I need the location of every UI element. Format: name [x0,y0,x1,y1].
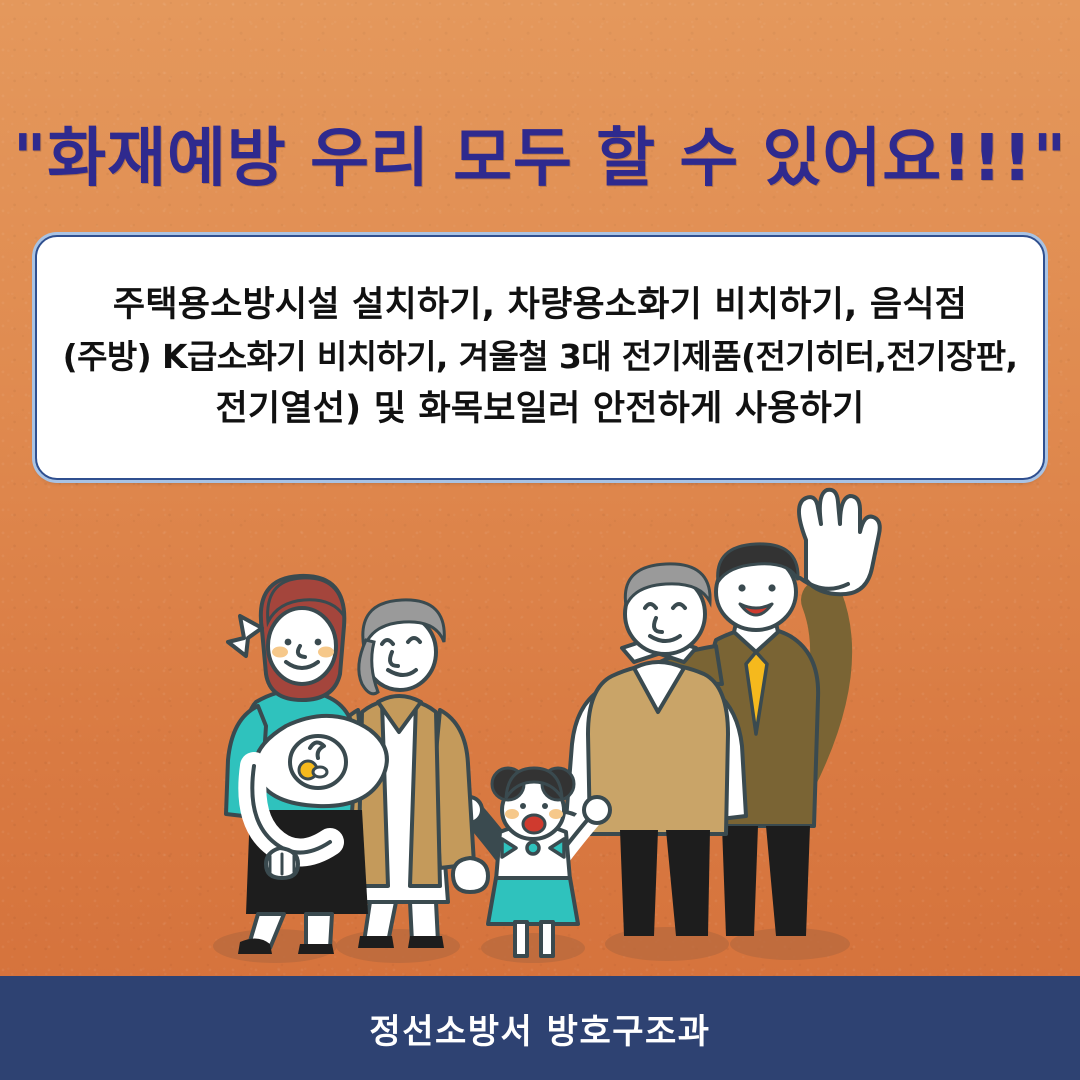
mother-head [228,576,344,700]
message-line-1: 주택용소방시설 설치하기, 차량용소화기 비치하기, 음식점 [113,279,967,332]
figure-grandfather [550,564,746,936]
family-illustration: .ln { stroke:#3a4a4f; stroke-width:4; st… [0,480,1080,980]
grandmother-head [359,600,445,694]
man-head [716,544,798,630]
grandfather-head [625,564,710,654]
waving-hand [799,490,880,594]
poster-root: "화재예방 우리 모두 할 수 있어요!!!" 주택용소방시설 설치하기, 차량… [0,0,1080,1080]
message-line-3: 전기열선) 및 화목보일러 안전하게 사용하기 [216,383,865,436]
message-box: 주택용소방시설 설치하기, 차량용소화기 비치하기, 음식점 (주방) K급소화… [35,235,1045,480]
page-title: "화재예방 우리 모두 할 수 있어요!!!" [0,126,1080,193]
message-line-2: (주방) K급소화기 비치하기, 겨울철 3대 전기제품(전기히터,전기장판, [63,332,1018,382]
footer-bar: 정선소방서 방호구조과 [0,976,1080,1080]
footer-department-label: 정선소방서 방호구조과 [369,1004,710,1053]
